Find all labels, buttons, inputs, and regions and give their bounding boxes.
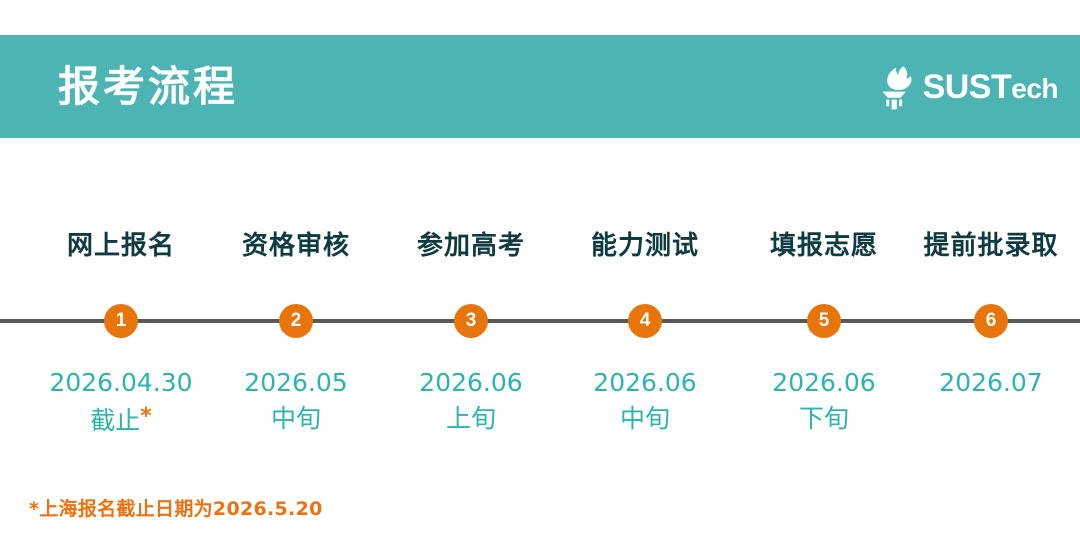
step-label: 参加高考 — [383, 232, 559, 261]
timeline-step-3[interactable]: 参加高考 3 2026.06 上旬 — [383, 232, 559, 261]
step-label: 提前批录取 — [903, 232, 1079, 261]
step-date-line2-wrap: 截止* — [33, 401, 209, 439]
footnote-asterisk-icon: * — [140, 404, 152, 429]
timeline-step-6[interactable]: 提前批录取 6 2026.07 — [903, 232, 1079, 261]
step-number-badge[interactable]: 6 — [974, 304, 1008, 338]
step-date: 2026.06 下旬 — [736, 365, 912, 436]
step-number-badge[interactable]: 1 — [104, 304, 138, 338]
step-date-line2: 中旬 — [271, 404, 321, 433]
sustech-brand-lockup: SUSTech — [873, 64, 1066, 110]
step-date: 2026.05 中旬 — [208, 365, 384, 436]
step-date-line2: 中旬 — [620, 404, 670, 433]
step-date: 2026.06 上旬 — [383, 365, 559, 436]
step-number-badge[interactable]: 3 — [454, 304, 488, 338]
timeline-step-4[interactable]: 能力测试 4 2026.06 中旬 — [557, 232, 733, 261]
sustech-wordmark: SUSTech — [923, 70, 1058, 104]
step-number-badge[interactable]: 2 — [279, 304, 313, 338]
step-number-badge[interactable]: 5 — [807, 304, 841, 338]
process-timeline: 网上报名 1 2026.04.30 截止* 资格审核 2 2026.05 中旬 … — [0, 232, 1080, 462]
timeline-step-5[interactable]: 填报志愿 5 2026.06 下旬 — [736, 232, 912, 261]
wordmark-suffix: ech — [1011, 73, 1058, 104]
wordmark-main: SUST — [923, 68, 1012, 106]
step-date: 2026.07 — [903, 365, 1079, 401]
step-date-line1: 2026.04.30 — [49, 368, 192, 397]
step-date-line1: 2026.06 — [593, 368, 696, 397]
timeline-steps: 网上报名 1 2026.04.30 截止* 资格审核 2 2026.05 中旬 … — [0, 232, 1080, 462]
step-label: 资格审核 — [208, 232, 384, 261]
step-date-line2-wrap: 下旬 — [736, 401, 912, 437]
step-label: 填报志愿 — [736, 232, 912, 261]
step-date-line2-wrap: 中旬 — [557, 401, 733, 437]
step-date-line2: 截止 — [90, 406, 140, 435]
step-number-badge[interactable]: 4 — [628, 304, 662, 338]
step-date: 2026.04.30 截止* — [33, 365, 209, 438]
footnote-text: *上海报名截止日期为2026.5.20 — [29, 494, 323, 521]
step-label: 能力测试 — [557, 232, 733, 261]
step-date-line1: 2026.05 — [244, 368, 347, 397]
step-date-line2-wrap: 中旬 — [208, 401, 384, 437]
page-title: 报考流程 — [58, 66, 238, 108]
timeline-step-1[interactable]: 网上报名 1 2026.04.30 截止* — [33, 232, 209, 261]
step-date-line2: 下旬 — [799, 404, 849, 433]
step-date-line2: 上旬 — [446, 404, 496, 433]
step-date-line1: 2026.06 — [772, 368, 875, 397]
timeline-step-2[interactable]: 资格审核 2 2026.05 中旬 — [208, 232, 384, 261]
sustech-torch-flame-icon — [873, 64, 915, 110]
step-date-line1: 2026.07 — [939, 368, 1042, 397]
step-label: 网上报名 — [33, 232, 209, 261]
step-date-line2-wrap: 上旬 — [383, 401, 559, 437]
step-date-line1: 2026.06 — [419, 368, 522, 397]
step-date: 2026.06 中旬 — [557, 365, 733, 436]
header-banner: 报考流程 SUSTech — [0, 35, 1080, 138]
